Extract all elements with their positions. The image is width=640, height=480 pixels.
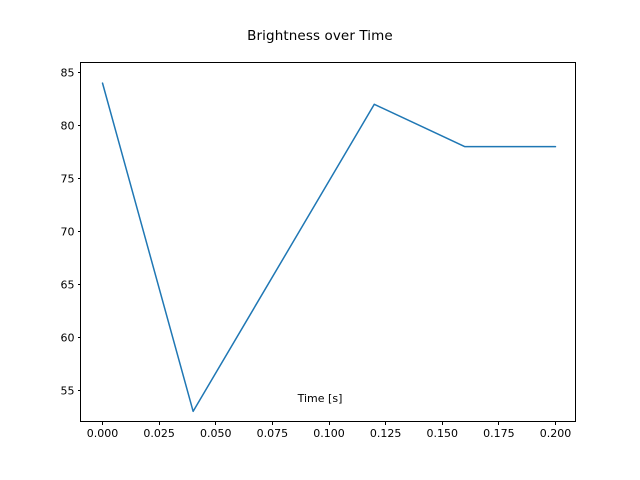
y-tick-label: 75 xyxy=(61,173,75,184)
x-tick-label: 0.000 xyxy=(87,428,119,439)
plot-area: 55606570758085 0.0000.0250.0500.0750.100… xyxy=(80,62,576,422)
y-tick-label: 60 xyxy=(61,332,75,343)
y-tick-label: 85 xyxy=(61,68,75,79)
chart-title: Brightness over Time xyxy=(0,28,640,44)
y-tick-label: 80 xyxy=(61,120,75,131)
y-tick-label: 70 xyxy=(61,226,75,237)
y-tick-label: 65 xyxy=(61,279,75,290)
x-tick-label: 0.025 xyxy=(143,428,175,439)
x-tick-label: 0.100 xyxy=(313,428,345,439)
line-series-svg xyxy=(81,63,577,423)
line-series-brightness xyxy=(103,83,556,411)
x-tick-label: 0.175 xyxy=(483,428,515,439)
figure-canvas: Brightness over Time 55606570758085 0.00… xyxy=(0,0,640,480)
x-tick-label: 0.050 xyxy=(200,428,232,439)
x-tick-label: 0.150 xyxy=(426,428,458,439)
x-axis-label: Time [s] xyxy=(0,392,640,405)
x-tick-label: 0.200 xyxy=(540,428,572,439)
x-tick-label: 0.125 xyxy=(370,428,402,439)
x-tick-label: 0.075 xyxy=(257,428,289,439)
